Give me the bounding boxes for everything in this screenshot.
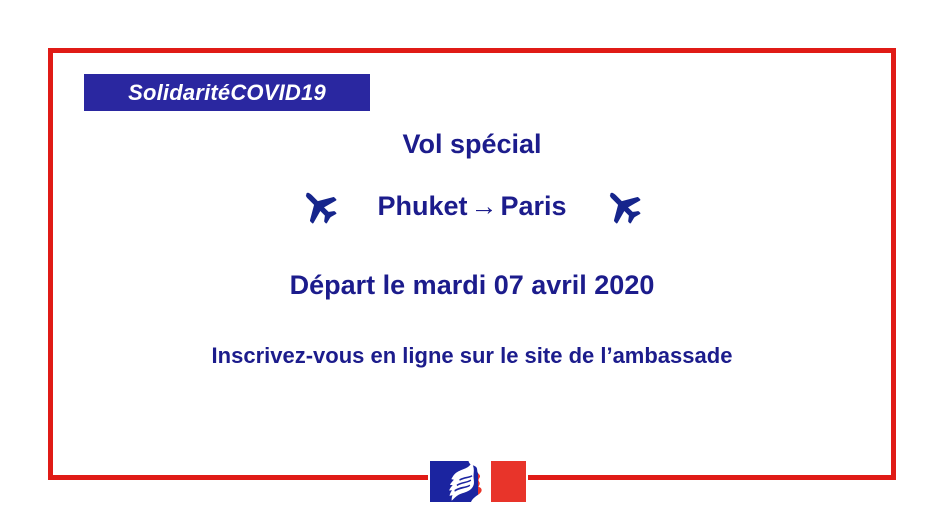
route-origin: Phuket <box>377 191 467 221</box>
airplane-icon <box>297 186 343 228</box>
route-text: Phuket→Paris <box>377 191 566 222</box>
departure-date-line: Départ le mardi 07 avril 2020 <box>53 270 891 301</box>
badge-label: SolidaritéCOVID19 <box>128 80 326 106</box>
route-destination: Paris <box>500 191 566 221</box>
marianne-french-republic-logo <box>430 461 526 502</box>
route-row: Phuket→Paris <box>53 186 891 228</box>
poster-content: Vol spécial Phuket→Paris <box>53 130 891 369</box>
poster-canvas: SolidaritéCOVID19 Vol spécial Phuket→Par… <box>0 0 945 532</box>
route-arrow-icon: → <box>467 191 500 221</box>
page-title: Vol spécial <box>53 130 891 160</box>
solidarite-covid19-badge: SolidaritéCOVID19 <box>84 74 370 111</box>
airplane-icon <box>601 186 647 228</box>
signup-instruction-line: Inscrivez-vous en ligne sur le site de l… <box>53 343 891 369</box>
